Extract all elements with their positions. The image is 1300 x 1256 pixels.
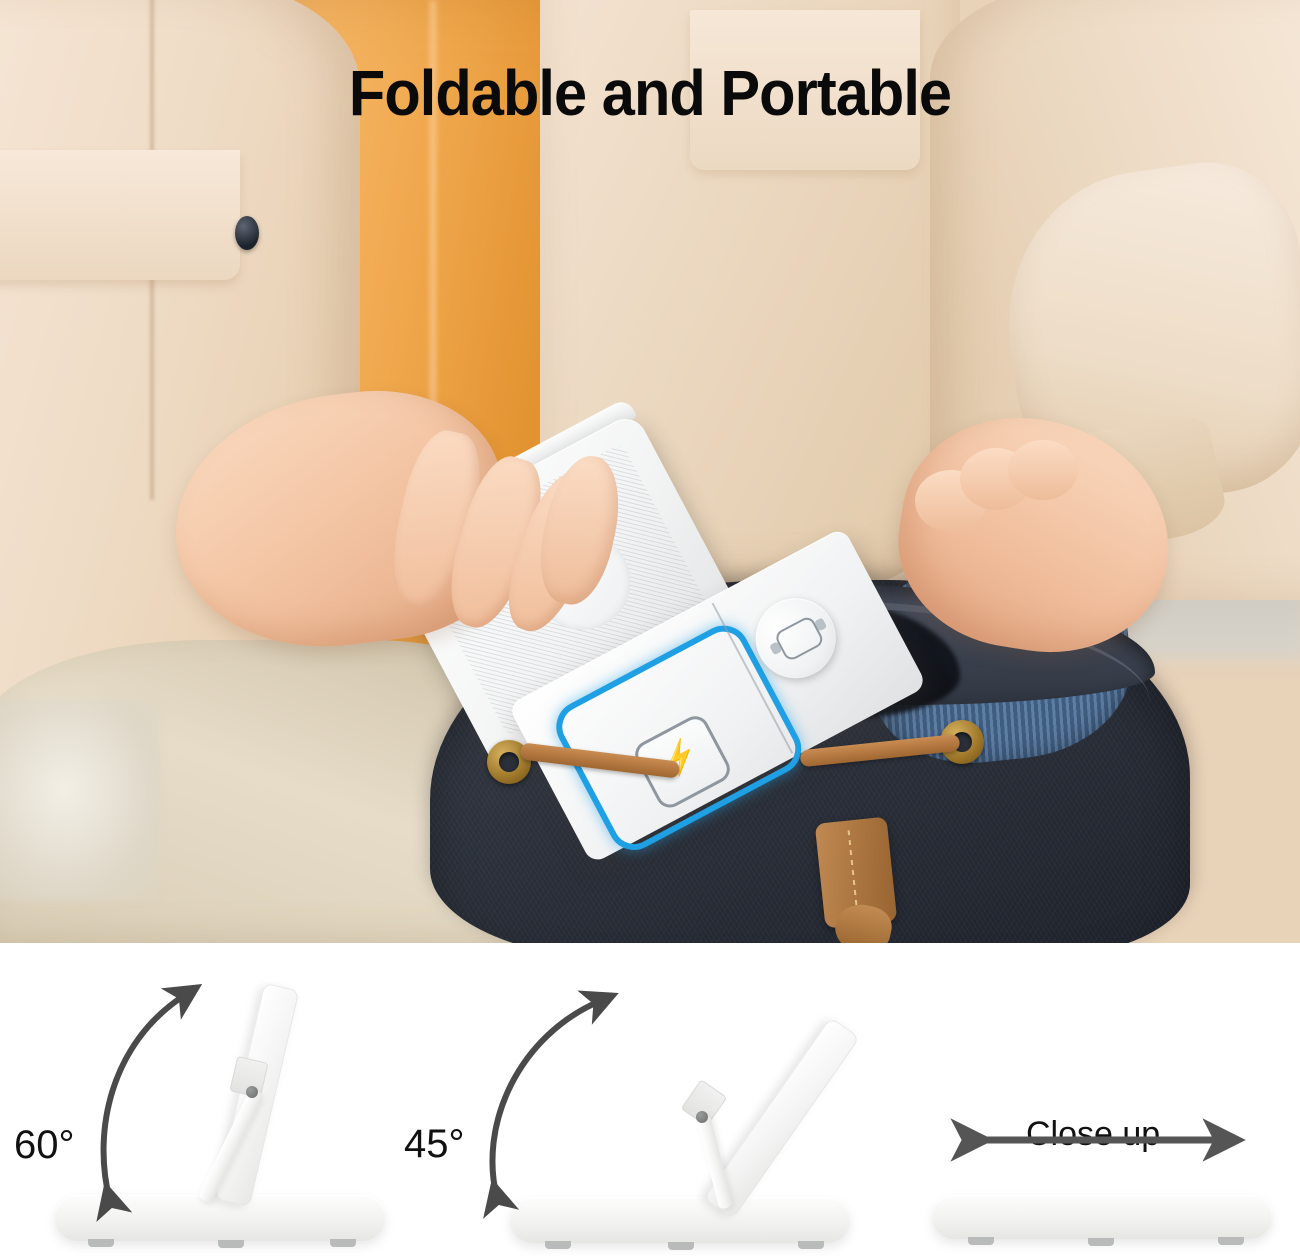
page-title: Foldable and Portable	[46, 56, 1255, 130]
stand-foot	[330, 1239, 356, 1247]
panel-angle-60: 60°	[0, 943, 400, 1256]
stand-hinge-60	[246, 1086, 258, 1098]
angle-label-60: 60°	[14, 1123, 75, 1168]
panel-angle-45: 45°	[400, 943, 850, 1256]
stand-base-45	[510, 1197, 850, 1243]
angle-label-45: 45°	[404, 1122, 465, 1167]
stand-hinge-45	[696, 1111, 708, 1123]
stand-foot	[968, 1237, 994, 1245]
stand-foot	[1088, 1238, 1114, 1246]
close-up-label: Close up	[1026, 1115, 1160, 1154]
stand-foot	[218, 1240, 244, 1248]
jacket-pocket-flap	[0, 150, 240, 280]
hero-lifestyle-photo: ⚡	[0, 0, 1300, 943]
stand-foot	[668, 1242, 694, 1250]
stand-foot	[88, 1239, 114, 1247]
knuckle	[1008, 440, 1078, 500]
fur-trim	[0, 700, 160, 900]
stand-foot	[545, 1241, 571, 1249]
product-feature-image: ⚡ Foldable and Portable	[0, 0, 1300, 1256]
panel-close-up: Close up	[850, 943, 1300, 1256]
stand-folded-flat	[932, 1195, 1272, 1239]
stand-base-60	[55, 1195, 385, 1241]
stand-foot	[798, 1241, 824, 1249]
angle-diagram-strip: 60° 45° Close up	[0, 943, 1300, 1256]
jacket-button	[235, 216, 259, 250]
stand-foot	[1218, 1237, 1244, 1245]
